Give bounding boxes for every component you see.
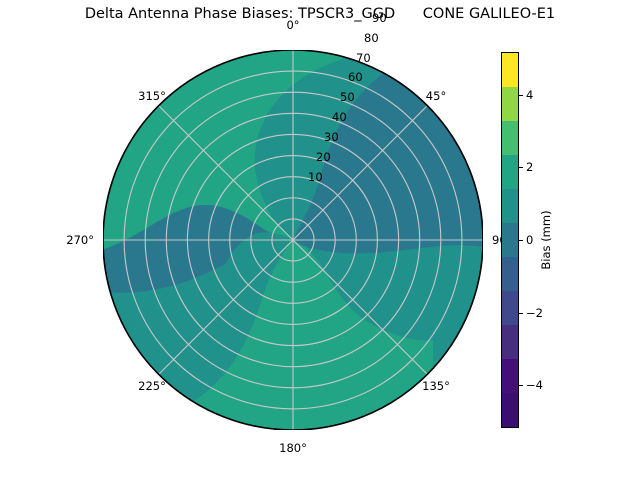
r-tick-label-80: 80 [364, 31, 379, 45]
colorbar-band-6 [502, 257, 518, 291]
r-tick-label-90: 90 [372, 11, 387, 25]
r-tick-label-40: 40 [332, 110, 347, 124]
colorbar-tick-m2 [519, 313, 523, 314]
colorbar-tick-0 [519, 240, 523, 241]
theta-tick-label-0: 0° [286, 18, 299, 32]
theta-tick-label-45: 45° [426, 89, 446, 103]
colorbar-axis-label: Bias (mm) [539, 210, 553, 269]
r-tick-label-20: 20 [316, 150, 331, 164]
theta-tick-label-135: 135° [422, 379, 450, 393]
polar-chart-figure: Delta Antenna Phase Biases: TPSCR3_GGD C… [0, 0, 640, 480]
colorbar-band-9 [502, 359, 518, 393]
theta-tick-label-225: 225° [138, 379, 166, 393]
colorbar-band-7 [502, 291, 518, 325]
colorbar-tick-4 [519, 95, 523, 96]
r-tick-label-50: 50 [340, 90, 355, 104]
colorbar-tick-label-4: 4 [526, 88, 533, 102]
colorbar-band-10 [502, 393, 518, 427]
r-tick-label-10: 10 [308, 170, 323, 184]
colorbar-band-8 [502, 325, 518, 359]
colorbar-tick-m4 [519, 385, 523, 386]
colorbar-band-0 [502, 53, 518, 87]
theta-tick-label-270: 270° [66, 233, 94, 247]
r-tick-label-60: 60 [348, 70, 363, 84]
polar-axes: 10 20 30 40 50 60 70 80 90 [103, 50, 483, 430]
colorbar-band-3 [502, 155, 518, 189]
polar-plot-svg [103, 50, 483, 430]
colorbar-tick-2 [519, 167, 523, 168]
polar-grid-spokes [103, 50, 483, 430]
theta-tick-label-315: 315° [138, 89, 166, 103]
colorbar-tick-label-0: 0 [526, 233, 533, 247]
page-title: Delta Antenna Phase Biases: TPSCR3_GGD C… [0, 6, 640, 22]
r-tick-label-30: 30 [324, 130, 339, 144]
colorbar-band-5 [502, 223, 518, 257]
colorbar: 4 2 0 −2 −4 [501, 52, 519, 428]
colorbar-band-2 [502, 121, 518, 155]
colorbar-bands [501, 52, 519, 428]
colorbar-tick-label-m4: −4 [526, 378, 543, 392]
colorbar-tick-label-2: 2 [526, 160, 533, 174]
r-tick-label-70: 70 [356, 51, 371, 65]
colorbar-tick-label-m2: −2 [526, 306, 543, 320]
colorbar-band-4 [502, 189, 518, 223]
colorbar-band-1 [502, 87, 518, 121]
theta-tick-label-180: 180° [279, 441, 307, 455]
